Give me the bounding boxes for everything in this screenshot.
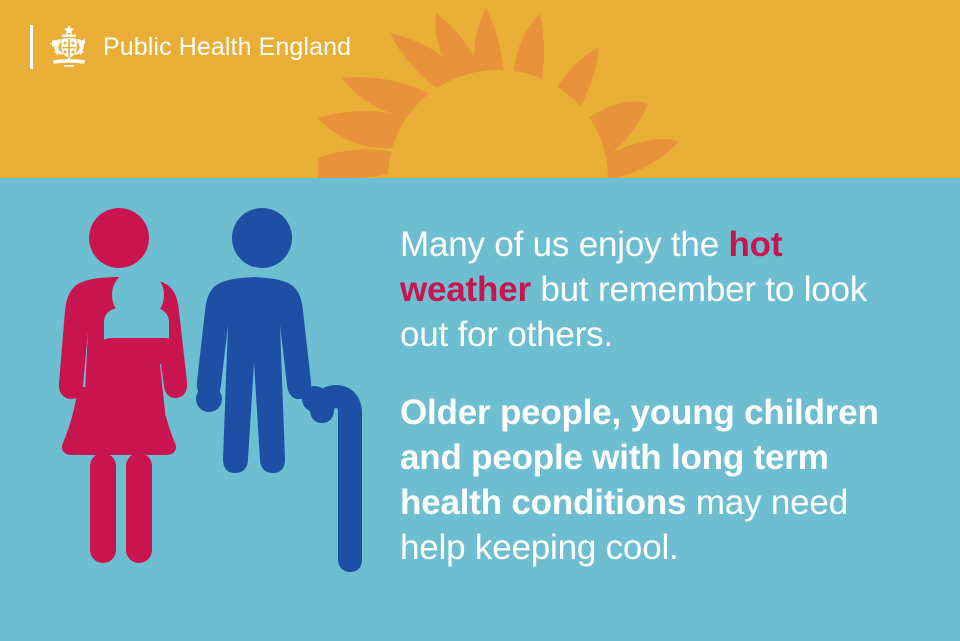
paragraph-primary: Many of us enjoy the hot weather but rem…: [400, 222, 920, 357]
poster: Public Health England: [0, 0, 960, 641]
brand-divider: [30, 25, 33, 69]
paragraph-1-part-1: Many of us enjoy the: [400, 225, 729, 264]
figures-illustration: [40, 205, 380, 575]
brand-lockup: Public Health England: [30, 22, 351, 72]
sun-icon: [318, 0, 678, 178]
mother-forearm: [98, 338, 178, 364]
header-band: Public Health England: [0, 0, 960, 178]
brand-name: Public Health England: [103, 35, 351, 60]
older-man-with-walking-cane-figure: [196, 208, 362, 572]
woman-holding-baby-figure: [59, 208, 187, 563]
walking-cane: [310, 385, 362, 572]
royal-coat-of-arms-icon: [47, 24, 91, 70]
paragraph-secondary: Older people, young children and people …: [400, 390, 920, 570]
message-block: Many of us enjoy the hot weather but rem…: [400, 222, 920, 570]
